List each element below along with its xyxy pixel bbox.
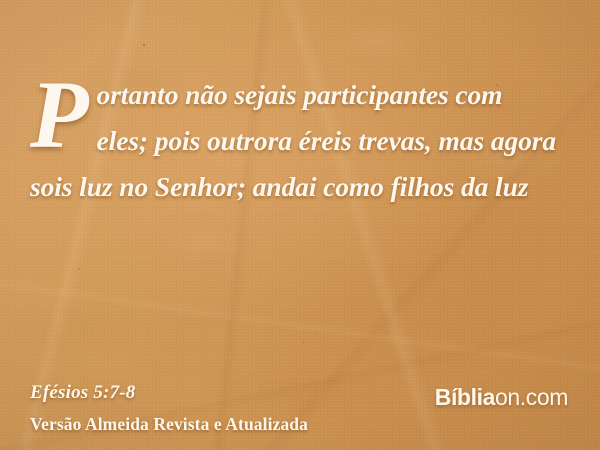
paper-speck — [143, 44, 145, 46]
logo-domain-text: on.com — [495, 384, 568, 410]
logo-brand-text: Bíblia — [435, 384, 495, 410]
bibliaon-logo[interactable]: Bíbliaon.com — [435, 384, 568, 411]
verse-reference: Efésios 5:7-8 — [30, 382, 136, 404]
verse-image-card: Portanto não sejais participantes com el… — [0, 0, 600, 450]
paper-speck — [78, 268, 80, 270]
paper-speck — [303, 341, 305, 343]
bible-version-label: Versão Almeida Revista e Atualizada — [30, 414, 308, 435]
verse-body-text: ortanto não sejais participantes com ele… — [30, 79, 556, 202]
verse-text-block: Portanto não sejais participantes com el… — [30, 72, 558, 210]
verse-dropcap: P — [30, 74, 97, 153]
